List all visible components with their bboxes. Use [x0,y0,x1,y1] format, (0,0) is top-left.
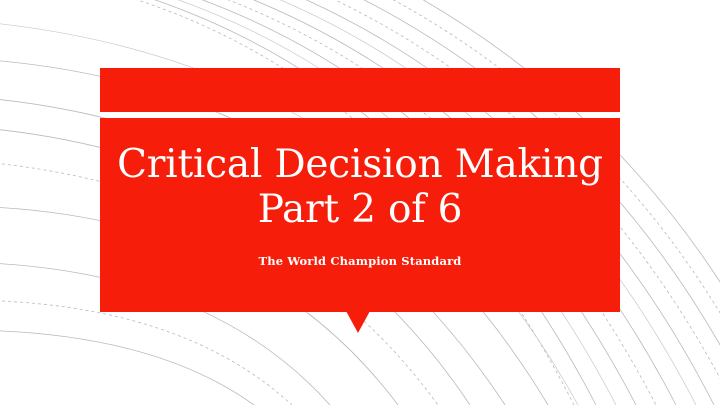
presentation-slide: Critical Decision Making Part 2 of 6 The… [0,0,720,405]
speech-bubble-callout: Critical Decision Making Part 2 of 6 The… [100,68,620,312]
callout-top-bar [100,68,620,112]
callout-tail [346,311,370,333]
slide-subtitle: The World Champion Standard [258,232,461,268]
page-title: Critical Decision Making Part 2 of 6 [117,142,603,232]
slide-text-block: Critical Decision Making Part 2 of 6 The… [100,118,620,312]
